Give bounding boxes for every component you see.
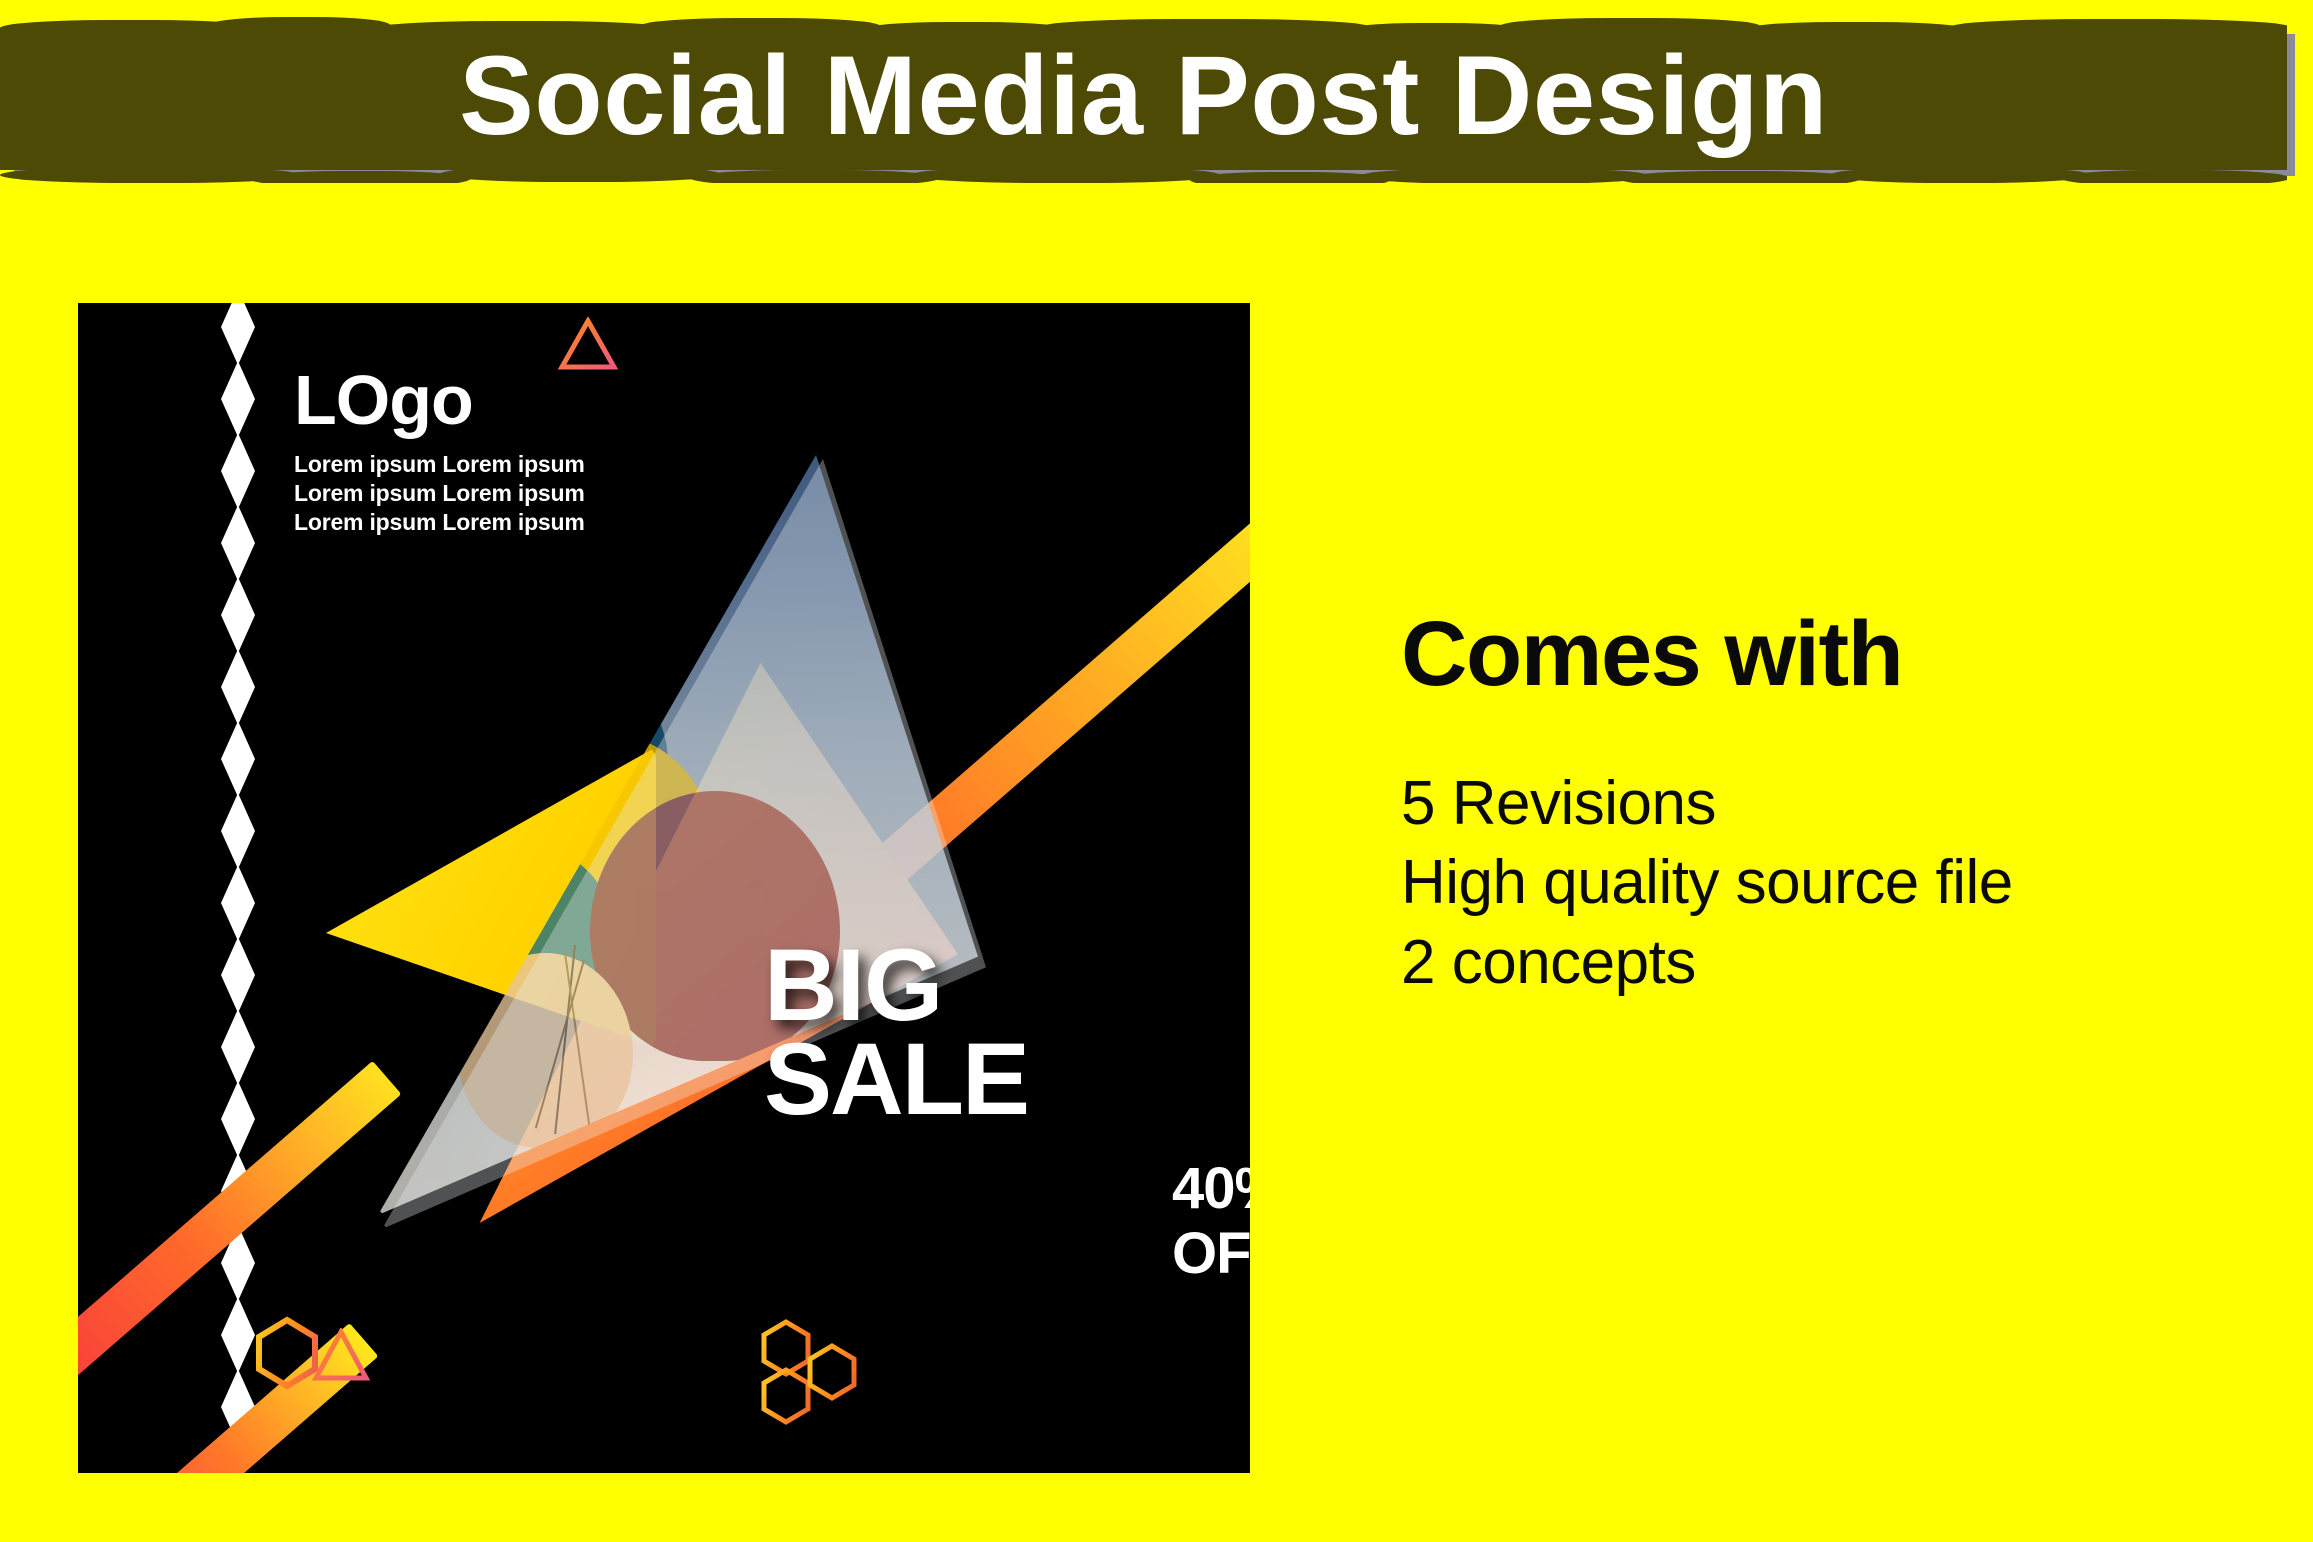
sale-line-1: BIG	[764, 939, 1028, 1033]
feature-item: 5 Revisions	[1401, 764, 2221, 843]
poster-canvas: Social Media Post Design LOgo Lorem ipsu…	[0, 0, 2313, 1542]
big-sale-headline: BIG SALE	[764, 939, 1028, 1127]
title-banner: Social Media Post Design	[0, 28, 2295, 173]
sale-line-2: SALE	[764, 1033, 1028, 1127]
triangle-outline-icon	[312, 1328, 370, 1382]
discount-label: OFF	[1172, 1222, 1250, 1287]
discount-badge: 40% OFF	[1172, 1157, 1250, 1287]
feature-item: High quality source file	[1401, 843, 2221, 922]
honeycomb-icon	[758, 1318, 868, 1426]
feature-item: 2 concepts	[1401, 923, 2221, 1002]
triangle-outline-icon	[558, 317, 618, 371]
hexagon-outline-icon	[253, 1316, 321, 1390]
comes-with-panel: Comes with 5 Revisions High quality sour…	[1401, 608, 2221, 1002]
discount-percent: 40%	[1172, 1157, 1250, 1222]
banner-background: Social Media Post Design	[0, 28, 2287, 170]
comes-with-heading: Comes with	[1401, 608, 2221, 700]
social-post-artwork: LOgo Lorem ipsum Lorem ipsum Lorem ipsum…	[78, 303, 1250, 1473]
triangle-composition: BIG SALE 40% OFF	[248, 343, 1248, 1403]
page-title: Social Media Post Design	[0, 28, 2287, 170]
